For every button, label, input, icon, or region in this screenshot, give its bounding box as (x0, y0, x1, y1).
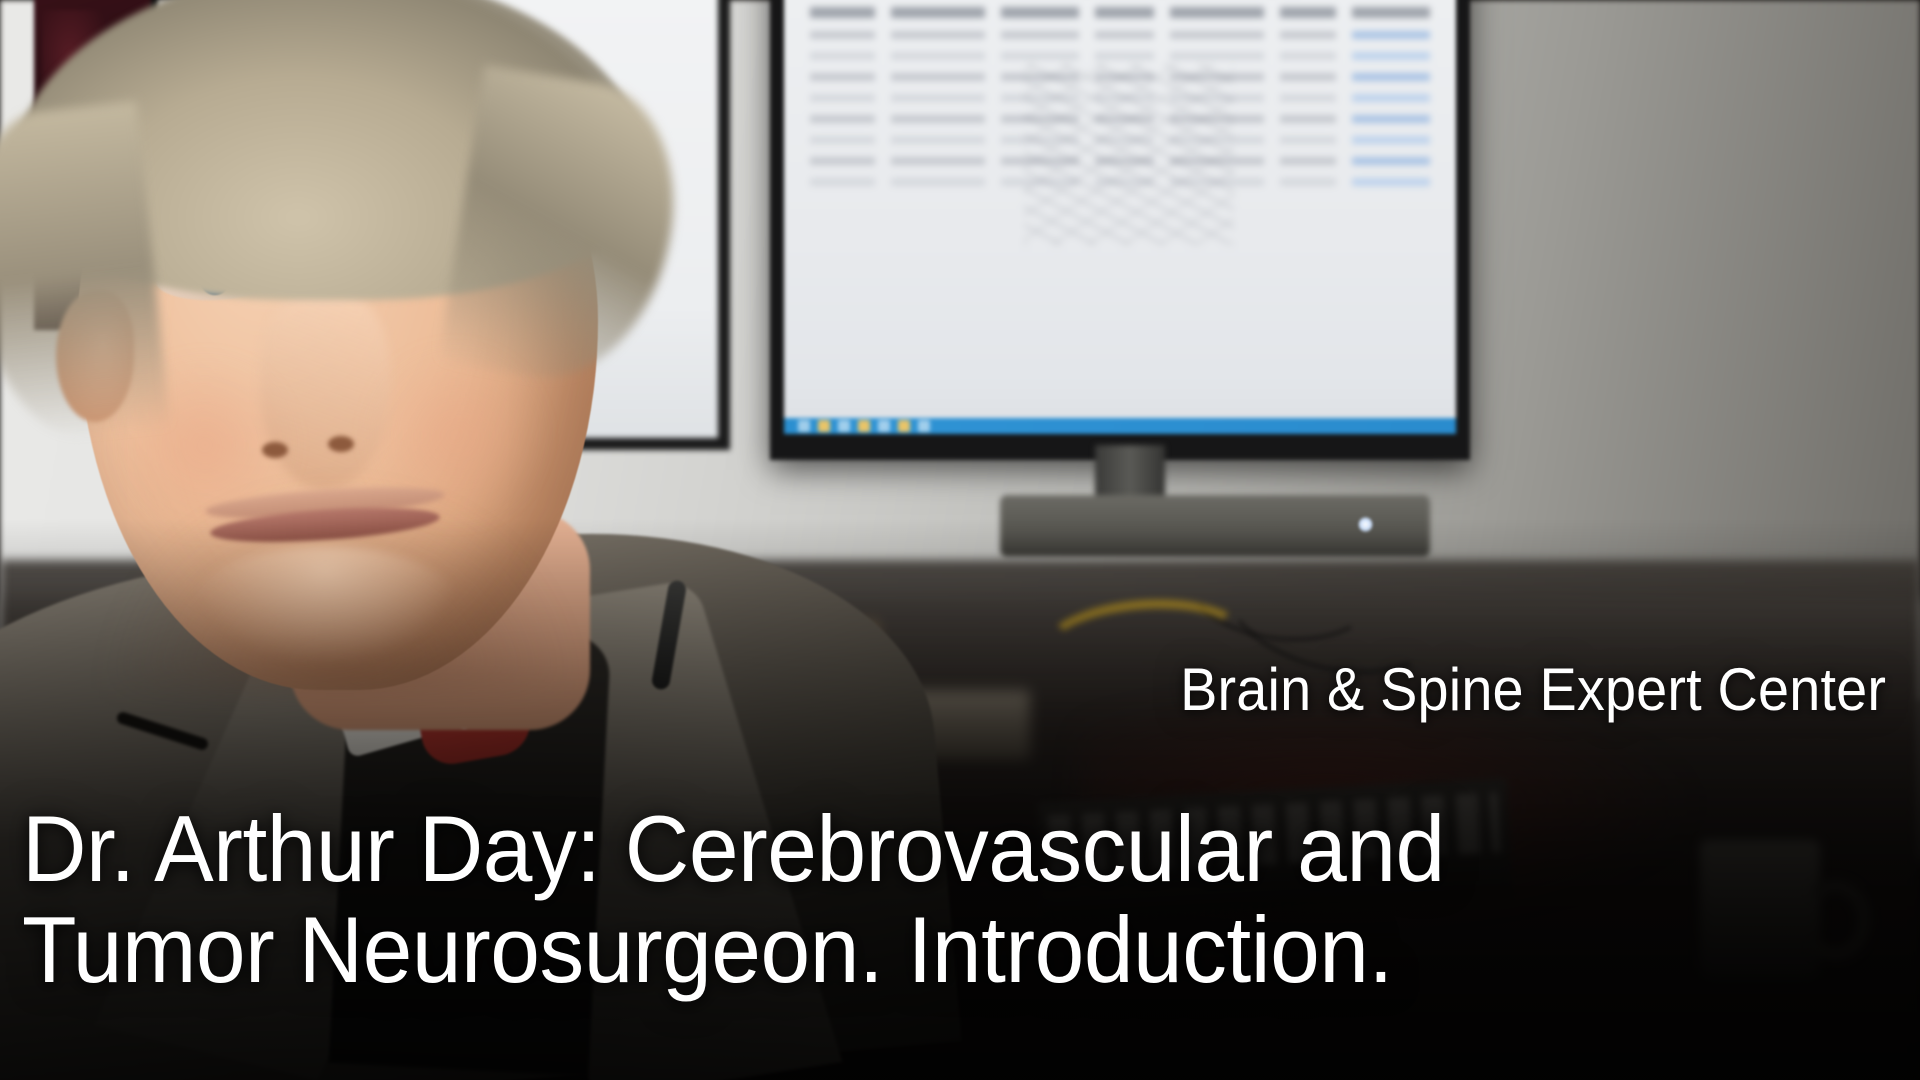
chin (190, 546, 460, 666)
nose (260, 290, 390, 490)
handwritten-annotation (1024, 64, 1234, 244)
nostril (328, 436, 354, 452)
hair-side-right (438, 65, 692, 394)
nostril (262, 442, 288, 458)
power-led-icon (1358, 516, 1373, 533)
subject-portrait (0, 0, 1010, 1080)
mug-handle (1800, 880, 1870, 960)
video-title-card: Brain & Spine Expert Center Dr. Arthur D… (0, 0, 1920, 1080)
keyboard (1037, 778, 1513, 922)
